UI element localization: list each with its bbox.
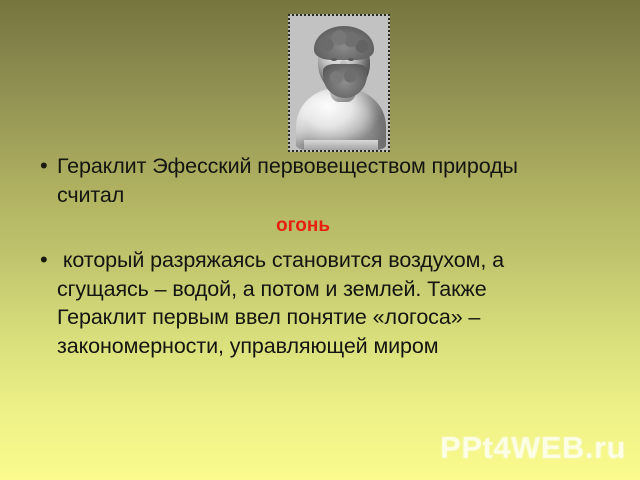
bust-pedestal-shape — [304, 140, 378, 150]
bullet-marker-icon: • — [40, 246, 57, 274]
presentation-slide: • Гераклит Эфесский первовеществом приро… — [0, 0, 640, 480]
bullet-text-2: который разряжаясь становится воздухом, … — [57, 246, 560, 360]
slide-body-text: • Гераклит Эфесский первовеществом приро… — [40, 152, 560, 360]
portrait-canvas — [290, 16, 388, 150]
heraclitus-bust-image — [288, 14, 390, 152]
bust-right-eye-shape — [348, 58, 354, 61]
bust-left-eye-shape — [331, 58, 337, 61]
bullet-item-1: • Гераклит Эфесский первовеществом приро… — [40, 152, 560, 209]
watermark-label: PPt4WEB.ru — [440, 430, 626, 466]
bullet-item-2: • который разряжаясь становится воздухом… — [40, 246, 560, 360]
bust-hair-shape — [314, 26, 374, 60]
highlight-text-fire: огонь — [40, 209, 560, 243]
bullet-text-1: Гераклит Эфесский первовеществом природы… — [57, 152, 560, 209]
bullet-marker-icon: • — [40, 152, 57, 180]
